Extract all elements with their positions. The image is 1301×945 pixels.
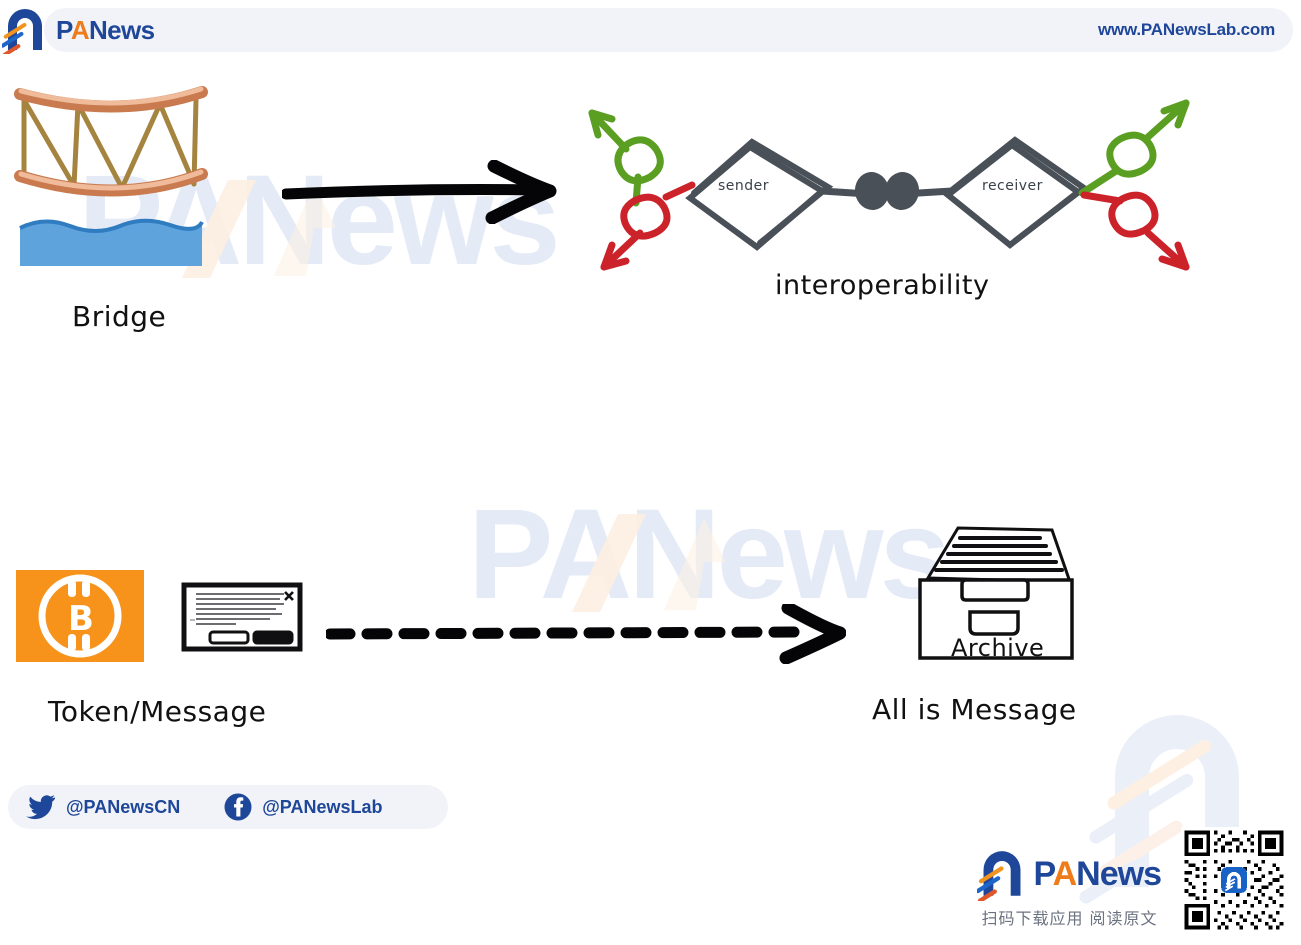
footer-brand-block: PANews 扫码下载应用 阅读原文 [977, 847, 1161, 929]
footer-cta-text: 扫码下载应用 阅读原文 [981, 905, 1157, 929]
footer-brand-row: PANews [977, 847, 1161, 901]
header-bar: PANews www.PANewsLab.com [0, 8, 1301, 52]
receiver-label: receiver [982, 178, 1043, 194]
bitcoin-logo-icon: B [16, 570, 144, 662]
footer-brand-wordmark: PANews [1033, 855, 1161, 894]
header-site-url[interactable]: www.PANewsLab.com [1098, 8, 1275, 52]
header-brand-pa: PA [56, 15, 89, 45]
dialog-primary-button [254, 632, 292, 643]
token-message-caption: Token/Message [48, 695, 266, 728]
dialog-secondary-button [210, 632, 248, 643]
sender-label: sender [718, 178, 769, 194]
panews-arch-logo-icon-footer [977, 847, 1027, 901]
interoperability-diagram [560, 95, 1210, 295]
facebook-icon[interactable] [224, 793, 252, 821]
bitcoin-b-glyph: B [68, 599, 94, 639]
footer-social-bar: @PANewsCN @PANewsLab [8, 785, 448, 829]
solid-right-arrow [282, 160, 564, 224]
bowtie-knot-icon [853, 170, 922, 212]
bridge-caption: Bridge [72, 300, 166, 333]
qr-code-panews-app[interactable] [1181, 827, 1287, 933]
infographic-page: PANews PANews PANews www.PANewsLab.com [0, 0, 1301, 945]
header-brand-news: News [89, 15, 155, 45]
panews-arch-logo-icon [2, 6, 48, 54]
twitter-icon[interactable] [26, 794, 56, 820]
footer-brand-pa: PA [1033, 855, 1076, 893]
receiver-outbound-green-circle-arrow-icon [1082, 103, 1186, 193]
header-brand-wordmark: PANews [56, 15, 155, 46]
footer-brand-news: News [1076, 855, 1161, 893]
dashed-right-arrow [326, 604, 846, 664]
receiver-inbound-red-circle-arrow-icon [1084, 195, 1186, 267]
twitter-handle[interactable]: @PANewsCN [66, 797, 180, 818]
archive-label: Archive [951, 634, 1044, 662]
message-dialog-sketch[interactable] [180, 580, 306, 656]
interoperability-caption: interoperability [775, 270, 989, 301]
sender-inbound-red-circle-arrow-icon [604, 185, 692, 267]
qr-code-image[interactable] [1181, 827, 1287, 933]
truss-bridge-over-water-icon [12, 78, 222, 268]
sender-outbound-green-circle-arrow-icon [592, 113, 660, 203]
all-is-message-caption: All is Message [872, 693, 1077, 726]
facebook-handle[interactable]: @PANewsLab [262, 797, 382, 818]
